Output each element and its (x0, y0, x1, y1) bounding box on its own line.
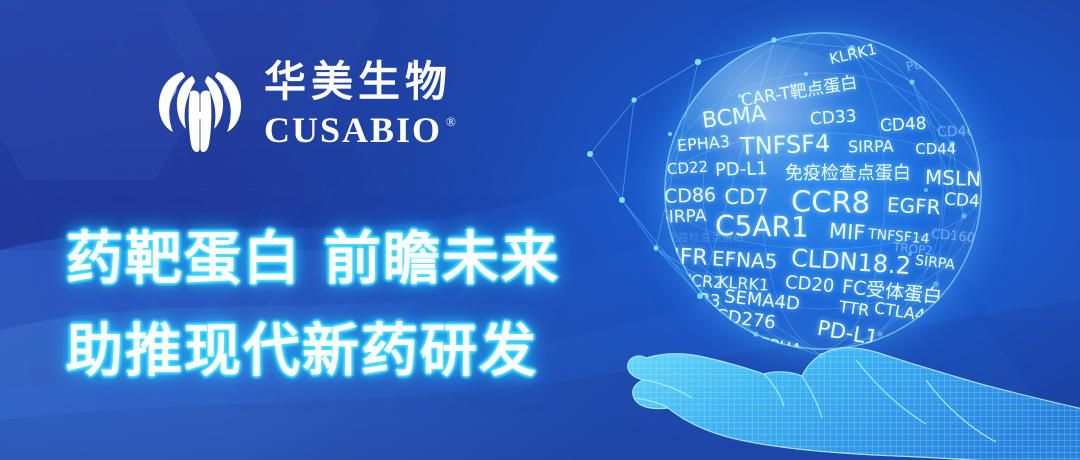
logo-company-name-en: CUSABIO (264, 112, 442, 148)
headline-line-1: 药靶蛋白 前瞻未来 (66, 222, 560, 296)
headline-block: 药靶蛋白 前瞻未来 助推现代新药研发 (66, 222, 560, 388)
company-logo[interactable]: 华美生物 CUSABIO ® (152, 52, 456, 156)
word-cloud-sphere: KLRK1PD-1CAR-T靶点蛋白BCMACD33CD48CD46EPHA3T… (664, 32, 982, 350)
headline-line-2: 助推现代新药研发 (66, 314, 560, 388)
promo-banner: 华美生物 CUSABIO ® 药靶蛋白 前瞻未来 助推现代新药研发 (0, 0, 1080, 460)
butterfly-hands-h-mark (152, 52, 248, 156)
registered-trademark-icon: ® (446, 115, 456, 128)
globe-graphic: KLRK1PD-1CAR-T靶点蛋白BCMACD33CD48CD46EPHA3T… (612, 18, 978, 364)
logo-company-name-cn: 华美生物 (264, 61, 456, 103)
sphere-meridians (664, 32, 982, 350)
